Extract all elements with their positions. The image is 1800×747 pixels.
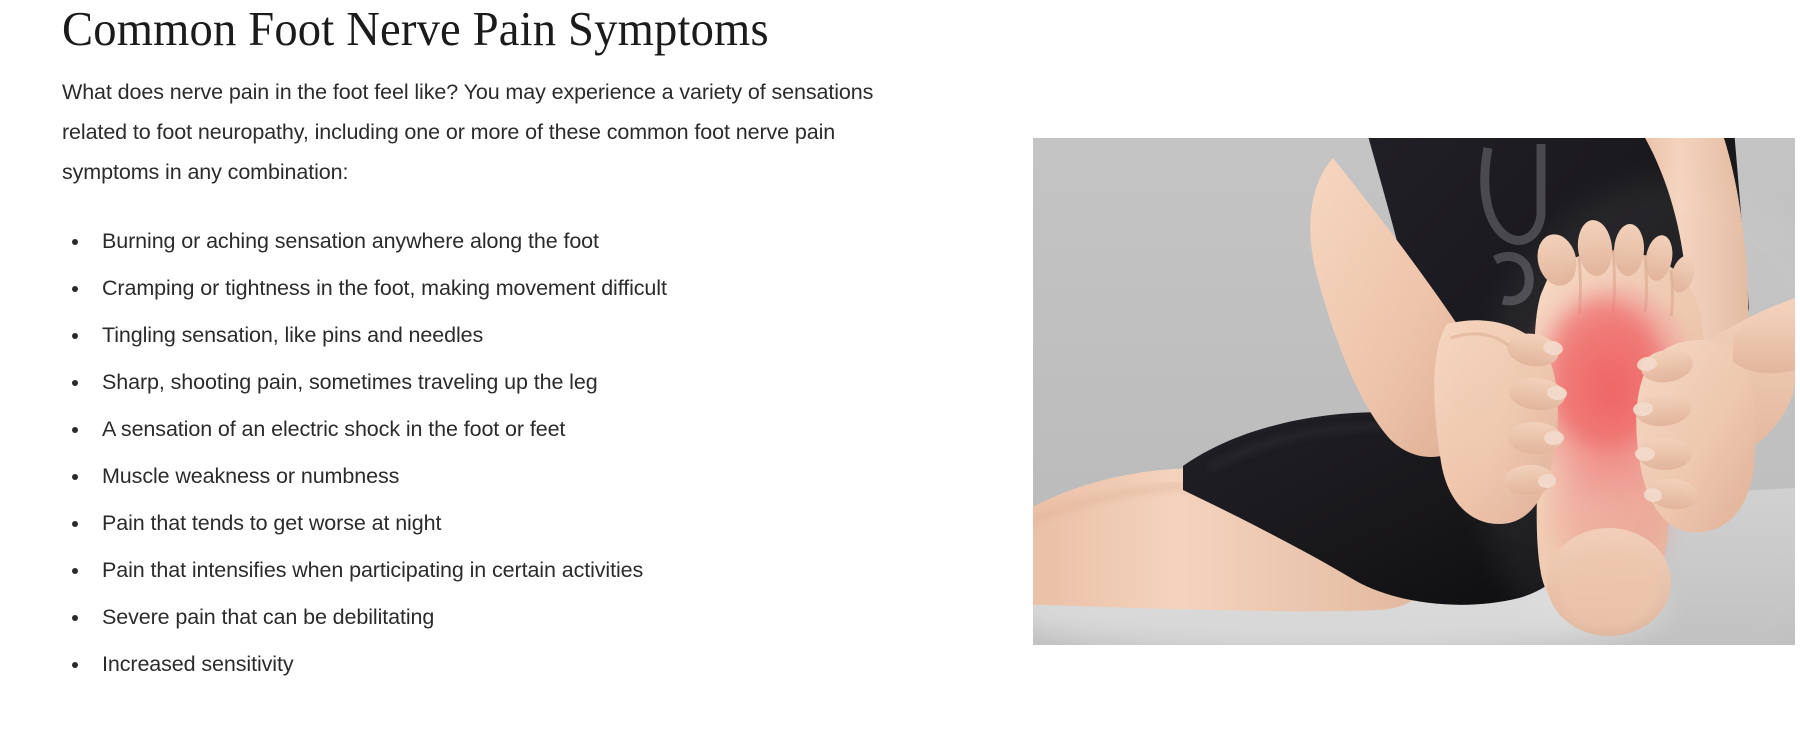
list-item: Sharp, shooting pain, sometimes travelin… [62,359,1010,406]
intro-paragraph: What does nerve pain in the foot feel li… [62,72,882,192]
bullet-icon [72,239,78,245]
list-item: Pain that tends to get worse at night [62,500,1010,547]
list-item-label: Pain that intensifies when participating… [102,558,643,582]
list-item-label: Severe pain that can be debilitating [102,605,434,629]
list-item-label: Tingling sensation, like pins and needle… [102,323,483,347]
list-item-label: A sensation of an electric shock in the … [102,417,565,441]
list-item-label: Pain that tends to get worse at night [102,511,441,535]
article-section: Common Foot Nerve Pain Symptoms What doe… [0,0,1800,747]
bullet-icon [72,615,78,621]
bullet-icon [72,568,78,574]
list-item-label: Burning or aching sensation anywhere alo… [102,229,599,253]
list-item: Muscle weakness or numbness [62,453,1010,500]
list-item-label: Increased sensitivity [102,652,293,676]
foot-pain-illustration [1033,138,1795,645]
list-item: Tingling sensation, like pins and needle… [62,312,1010,359]
list-item-label: Sharp, shooting pain, sometimes travelin… [102,370,598,394]
text-column: Common Foot Nerve Pain Symptoms What doe… [0,0,1010,747]
bullet-icon [72,521,78,527]
symptom-list: Burning or aching sensation anywhere alo… [62,218,1010,688]
list-item: Increased sensitivity [62,641,1010,688]
bullet-icon [72,427,78,433]
bullet-icon [72,662,78,668]
page-title: Common Foot Nerve Pain Symptoms [62,0,963,58]
list-item-label: Muscle weakness or numbness [102,464,399,488]
list-item: Burning or aching sensation anywhere alo… [62,218,1010,265]
list-item: Severe pain that can be debilitating [62,594,1010,641]
bullet-icon [72,474,78,480]
list-item: Pain that intensifies when participating… [62,547,1010,594]
bullet-icon [72,333,78,339]
foot-pain-photo [1033,138,1795,645]
bullet-icon [72,380,78,386]
bullet-icon [72,286,78,292]
list-item-label: Cramping or tightness in the foot, makin… [102,276,667,300]
list-item: Cramping or tightness in the foot, makin… [62,265,1010,312]
list-item: A sensation of an electric shock in the … [62,406,1010,453]
